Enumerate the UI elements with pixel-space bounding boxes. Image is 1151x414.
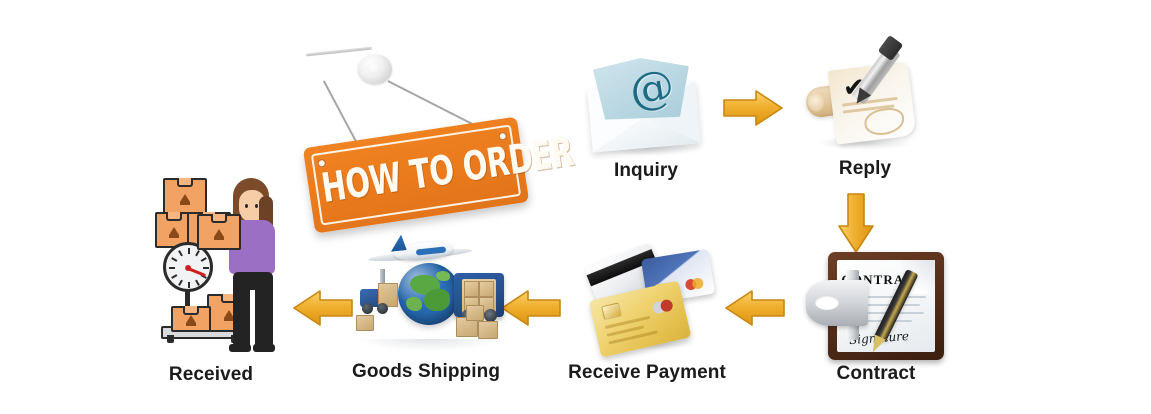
sign-plate: HOW TO ORDER <box>303 117 529 234</box>
worker-legs <box>233 272 273 346</box>
globe-landmass <box>436 271 450 281</box>
forklift-icon <box>356 277 396 311</box>
scroll-stamp-blob <box>863 106 906 137</box>
contract-clipboard-icon: CONTRACT Signature <box>806 252 946 362</box>
clipboard-clasp <box>806 280 868 326</box>
card-chip <box>601 302 622 320</box>
step-label-reply: Reply <box>745 158 985 180</box>
at-symbol: @ <box>627 63 677 115</box>
ground-reflection <box>360 339 500 351</box>
received-warehouse-icon <box>155 176 295 356</box>
worker-shoe <box>229 344 251 352</box>
sign-rod <box>306 47 372 57</box>
worker-eye <box>255 204 258 208</box>
how-to-order-infographic: HOW TO ORDER @ Inquiry ✔ <box>0 0 1151 414</box>
arrow-down-reply-to-contract <box>836 192 876 254</box>
arrow-right-inquiry-to-reply <box>722 88 784 128</box>
step-label-inquiry: Inquiry <box>526 160 766 182</box>
step-label-receive-payment: Receive Payment <box>527 362 767 384</box>
carried-box <box>197 214 241 250</box>
goods-shipping-icon <box>350 243 510 353</box>
globe-landmass <box>424 289 450 311</box>
step-label-contract: Contract <box>756 363 996 385</box>
reply-document-icon: ✔ <box>806 46 926 152</box>
credit-cards-icon <box>588 250 708 350</box>
forklift-wheel <box>362 303 373 314</box>
arrow-left-contract-to-payment <box>724 288 786 328</box>
card-logo-dots <box>685 277 707 292</box>
step-label-received: Received <box>91 364 331 386</box>
globe-icon <box>398 263 460 325</box>
worker-shoe <box>253 344 275 352</box>
weighed-box <box>171 306 211 332</box>
airplane-tail <box>389 234 407 252</box>
stacked-box <box>163 178 207 216</box>
card-logo-dots <box>652 298 676 316</box>
shipping-box <box>466 305 484 321</box>
forklift-wheel <box>377 303 388 314</box>
hanging-hook-icon <box>358 54 392 84</box>
envelope-flap: @ <box>593 54 692 124</box>
globe-landmass <box>406 297 422 311</box>
how-to-order-sign: HOW TO ORDER <box>296 36 546 236</box>
shipping-box <box>356 315 374 331</box>
email-envelope-icon: @ <box>584 56 708 152</box>
step-label-goods-shipping: Goods Shipping <box>306 361 546 383</box>
worker-eye <box>245 204 248 208</box>
scale-foot <box>167 335 174 343</box>
arrow-left-shipping-to-received <box>292 288 354 328</box>
shipping-box <box>478 321 498 339</box>
